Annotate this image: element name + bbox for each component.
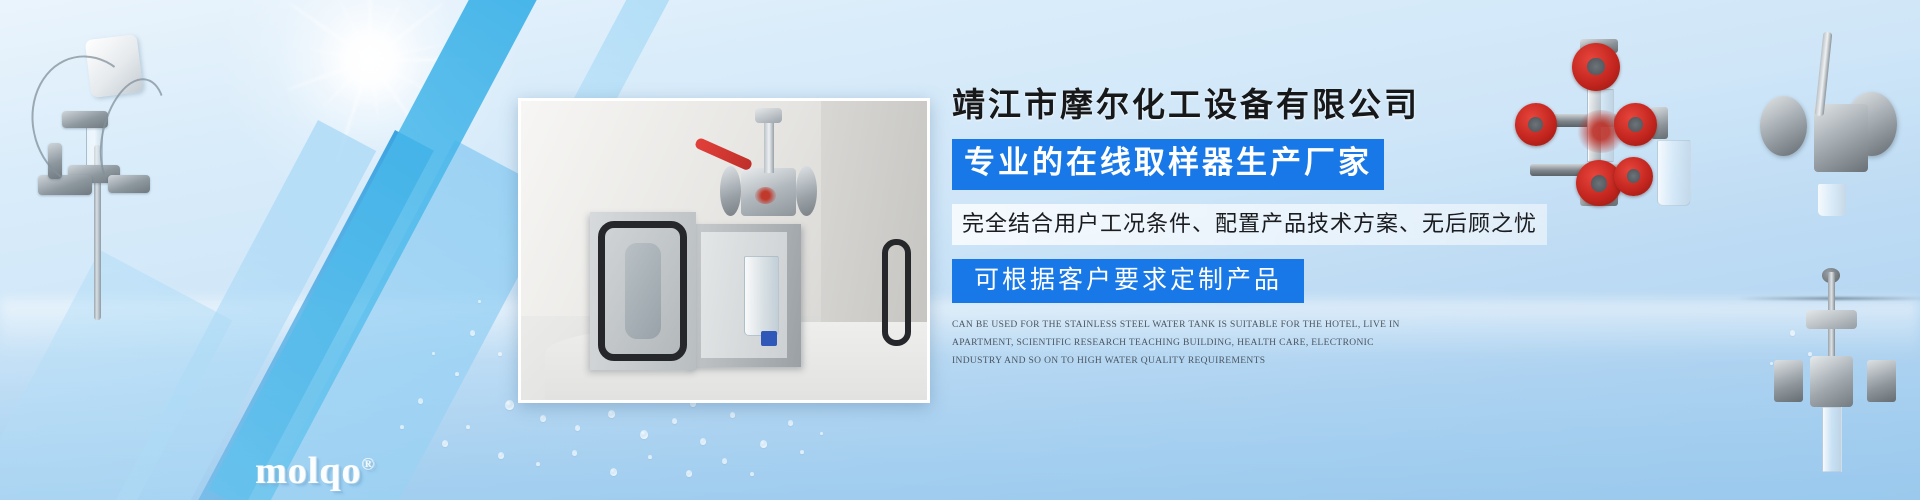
water-droplet — [730, 412, 735, 418]
right-top-product-image — [1742, 28, 1920, 228]
water-droplet — [442, 440, 448, 447]
photo-cabinet-door — [590, 212, 696, 370]
valve-bottom-flange-left — [1774, 360, 1803, 402]
photo-sample-bottle — [744, 256, 778, 336]
valve-bottom-cap — [1806, 310, 1856, 329]
cross-sample-bottle — [1657, 140, 1692, 206]
company-name: 靖江市摩尔化工设备有限公司 — [952, 88, 1592, 126]
subline-text: 完全结合用户工况条件、配置产品技术方案、无后顾之忧 — [952, 204, 1547, 245]
photo-door-gasket — [598, 221, 687, 360]
water-droplet — [505, 400, 514, 410]
valve-bottom-body — [1810, 356, 1853, 406]
banner-text-block: 靖江市摩尔化工设备有限公司 专业的在线取样器生产厂家 完全结合用户工况条件、配置… — [952, 88, 1592, 370]
cross-handwheel-right — [1614, 103, 1656, 146]
water-droplet — [572, 450, 577, 456]
sun-ray — [369, 1, 402, 60]
water-droplet — [608, 410, 615, 418]
photo-bottle-cap — [761, 331, 777, 346]
photo-wall-side — [821, 101, 927, 328]
promotional-banner: 靖江市摩尔化工设备有限公司 专业的在线取样器生产厂家 完全结合用户工况条件、配置… — [0, 0, 1920, 500]
photo-valve-flange-right — [796, 166, 817, 216]
custom-product-badge: 可根据客户要求定制产品 — [952, 259, 1304, 304]
water-droplet — [498, 452, 504, 459]
registered-mark-icon: ® — [361, 454, 375, 473]
sun-ray — [287, 59, 371, 91]
valve-bottom-flange-right — [1867, 360, 1896, 402]
water-droplet — [722, 458, 727, 464]
watermark-text: molqo — [255, 450, 361, 492]
brand-watermark: molqo® — [255, 449, 375, 493]
water-droplet — [540, 415, 546, 422]
cross-handwheel-lower-right — [1614, 157, 1652, 196]
photo-door-window — [625, 243, 661, 338]
cross-handwheel-top — [1572, 43, 1620, 91]
photo-valve-assembly — [720, 113, 817, 233]
water-droplet — [700, 438, 706, 445]
valve-top-flange-left — [1760, 96, 1807, 156]
sun-ray — [369, 0, 372, 60]
tagline-highlight: 专业的在线取样器生产厂家 — [952, 139, 1384, 190]
photo-valve-knob — [755, 108, 782, 122]
photo-brand-seal — [755, 187, 776, 204]
photo-valve-flange-left — [720, 166, 741, 216]
sun-ray — [336, 0, 370, 60]
valve-bottom-tube — [1822, 407, 1842, 472]
water-droplet — [788, 420, 793, 426]
water-droplet — [640, 430, 648, 439]
water-droplet — [672, 418, 677, 424]
english-description: CAN BE USED FOR THE STAINLESS STEEL WATE… — [952, 316, 1407, 370]
water-droplet — [470, 330, 475, 336]
water-droplet — [575, 425, 580, 431]
valve-top-cup — [1818, 184, 1847, 216]
photo-cabinet-handle — [882, 239, 910, 347]
water-droplet — [760, 440, 767, 448]
water-droplet — [686, 470, 692, 477]
water-droplet — [418, 398, 423, 404]
center-product-photo — [518, 98, 930, 403]
right-bottom-product-image — [1745, 268, 1920, 478]
left-product-image — [10, 25, 170, 315]
water-droplet — [610, 468, 617, 476]
